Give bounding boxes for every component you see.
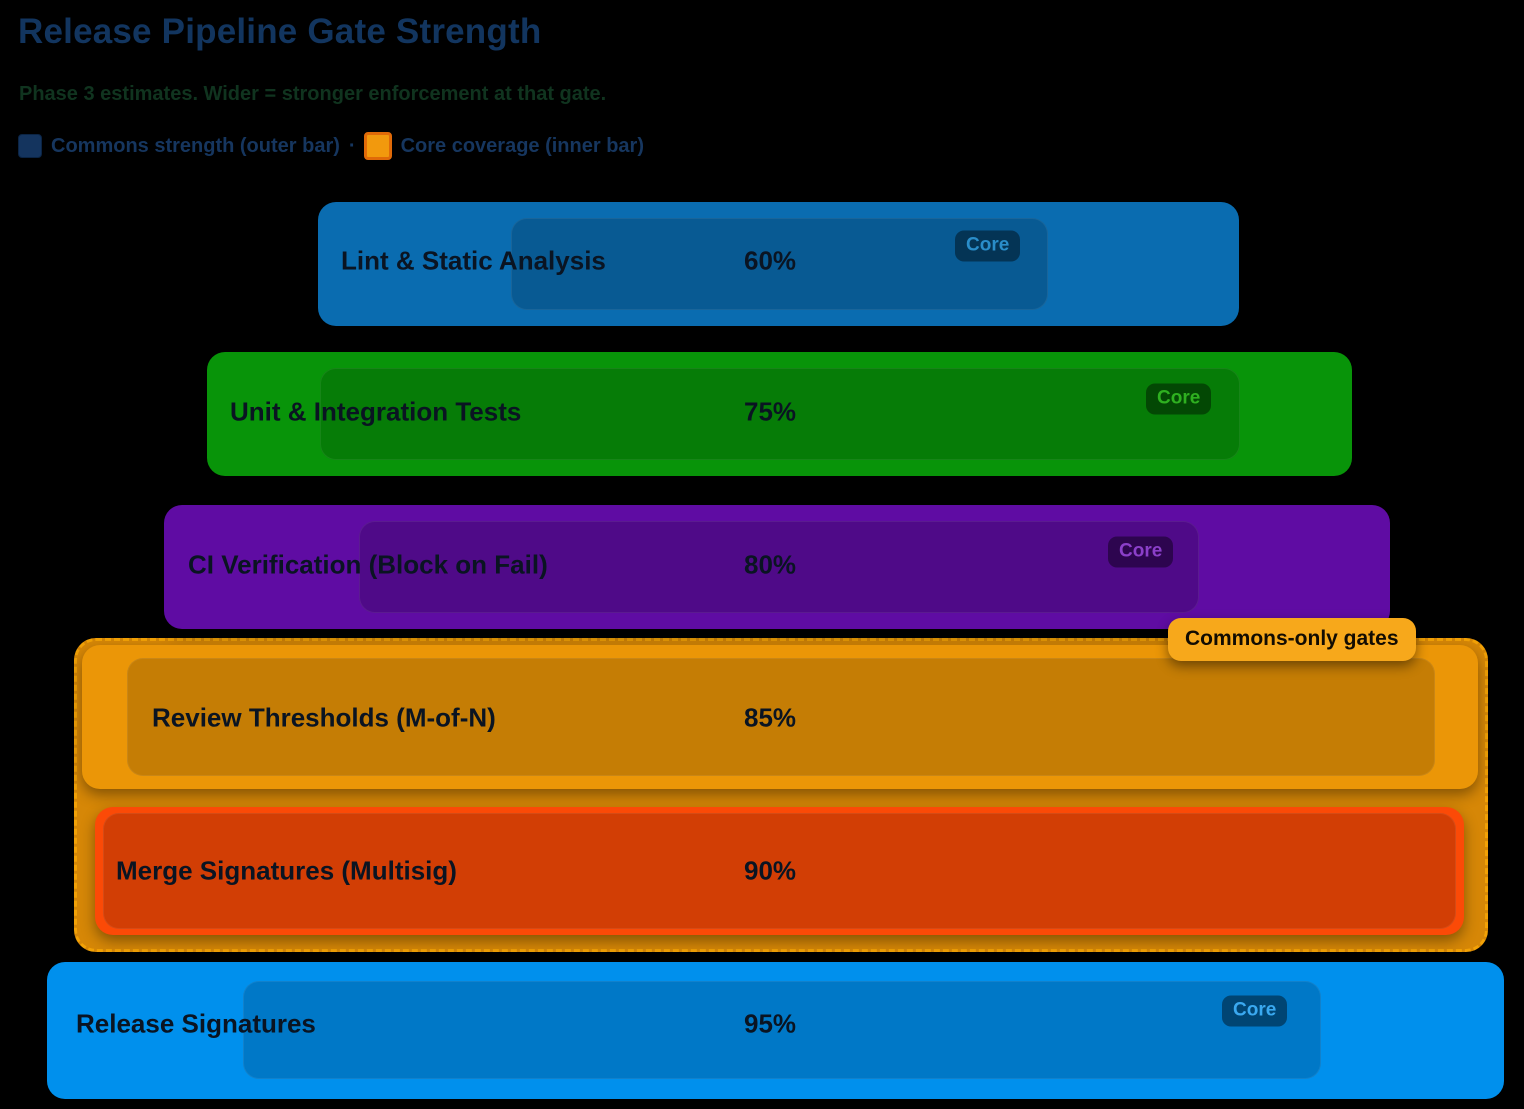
funnel-row-label: Release Signatures [76,1009,316,1040]
funnel-row-label: Merge Signatures (Multisig) [116,856,457,887]
core-badge: Core [1222,996,1287,1027]
funnel-row-label: Lint & Static Analysis [341,246,606,277]
funnel-row-value: 60% [744,246,796,277]
funnel-row-value: 75% [744,397,796,428]
funnel-row-label: Unit & Integration Tests [230,397,521,428]
funnel-chart: Lint & Static Analysis 60% Core Unit & I… [0,0,1524,1109]
funnel-row-value: 85% [744,703,796,734]
core-badge: Core [1146,384,1211,415]
funnel-row-label: Review Thresholds (M-of-N) [152,703,496,734]
core-badge: Core [1108,537,1173,568]
funnel-row-label: CI Verification (Block on Fail) [188,550,548,581]
core-badge: Core [955,231,1020,262]
chart-canvas: Release Pipeline Gate Strength Phase 3 e… [0,0,1524,1109]
funnel-row-value: 80% [744,550,796,581]
commons-only-group-badge: Commons-only gates [1168,618,1416,661]
funnel-row-value: 90% [744,856,796,887]
funnel-row-value: 95% [744,1009,796,1040]
